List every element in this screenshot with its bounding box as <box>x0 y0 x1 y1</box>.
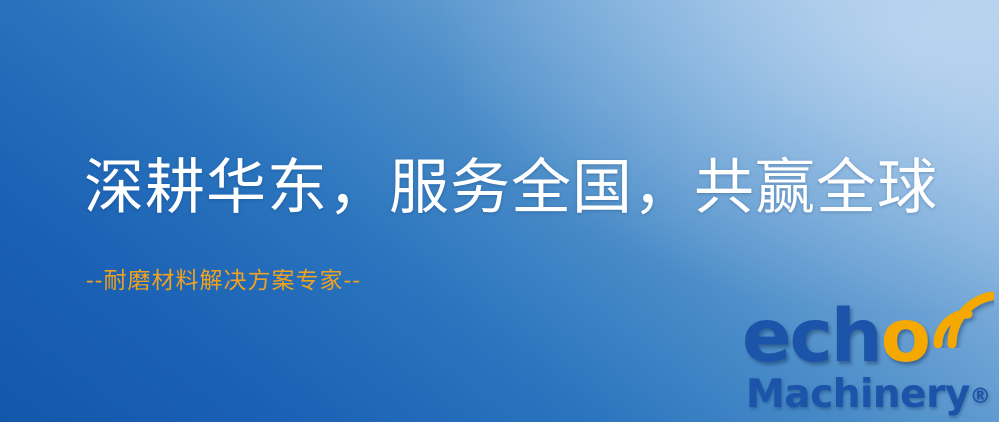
banner-subtitle: --耐磨材料解决方案专家-- <box>86 266 361 296</box>
echo-machinery-logo: echo Machinery® <box>742 296 994 420</box>
logo-subword-text: Machinery <box>746 372 970 417</box>
logo-text-o: o <box>881 294 929 379</box>
logo-text-ech: ech <box>742 294 881 379</box>
registered-trademark-icon: ® <box>970 384 991 408</box>
promo-banner: 深耕华东，服务全国，共赢全球 --耐磨材料解决方案专家-- echo Machi… <box>0 0 999 422</box>
logo-subword: Machinery® <box>746 372 991 417</box>
banner-headline: 深耕华东，服务全国，共赢全球 <box>84 150 938 226</box>
signal-wave-icon <box>928 292 994 348</box>
logo-wordmark: echo <box>742 296 994 378</box>
